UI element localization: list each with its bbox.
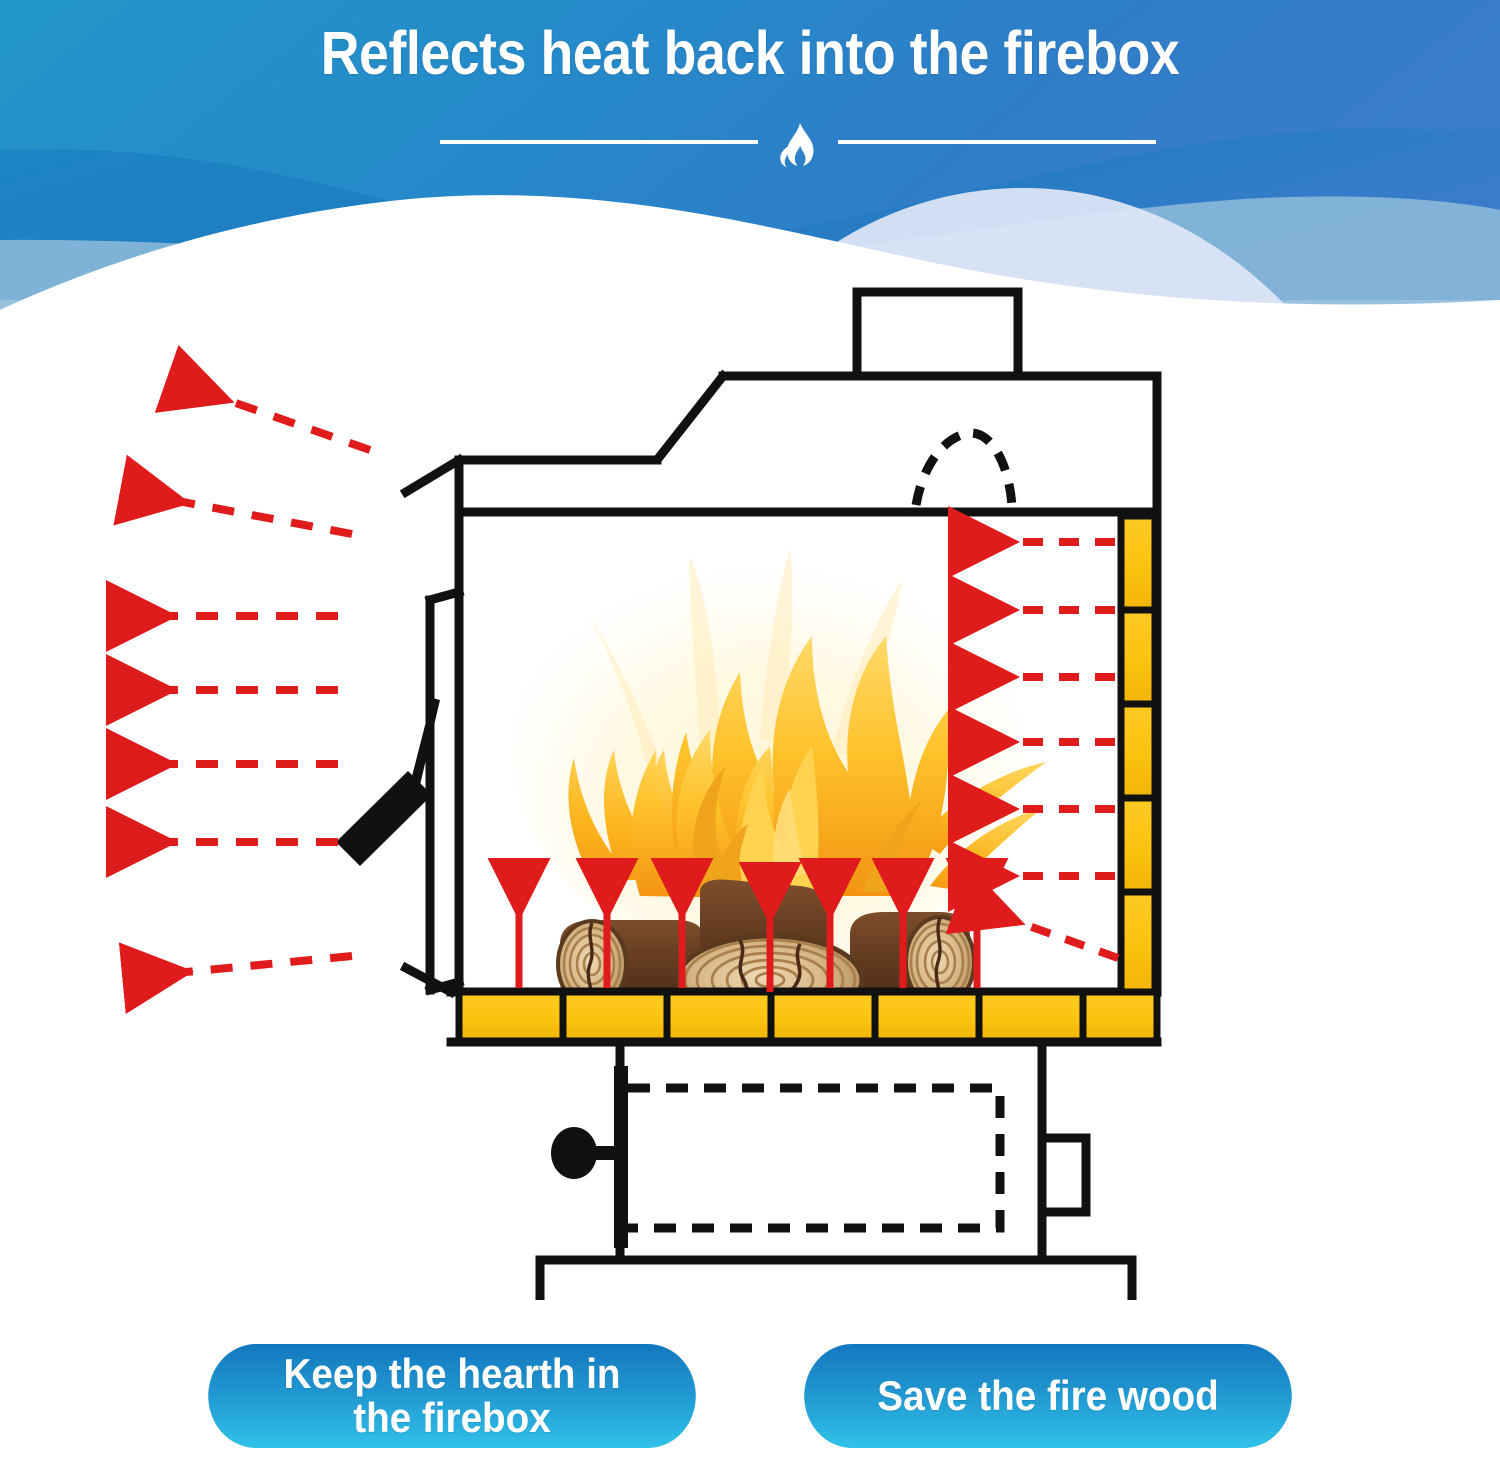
- divider-rule-right: [838, 140, 1156, 144]
- floor-brick: [667, 992, 771, 1042]
- floor-brick: [875, 992, 979, 1042]
- header-banner: Reflects heat back into the firebox: [0, 0, 1500, 310]
- save-firewood-button[interactable]: Save the fire wood: [804, 1344, 1292, 1448]
- base-plinth: [540, 1260, 1132, 1300]
- floor-brick: [563, 992, 667, 1042]
- stove-top-left-lip: [406, 460, 459, 492]
- heat-arrow-left: [186, 956, 352, 972]
- ash-pan-knob: [551, 1127, 624, 1179]
- floor-firebrick-row: [459, 992, 1157, 1042]
- side-air-vent: [1042, 1138, 1086, 1212]
- ash-pan-dashed-outline: [628, 1088, 1000, 1228]
- wood-stove-cutaway-diagram: [0, 280, 1500, 1300]
- flame-icon: [770, 122, 830, 174]
- keep-hearth-button[interactable]: Keep the hearth in the firebox: [208, 1344, 696, 1448]
- left-radiating-arrows: [170, 400, 370, 972]
- divider-rule-left: [440, 140, 758, 144]
- side-brick: [1121, 610, 1155, 704]
- heat-arrow-left: [227, 400, 370, 450]
- footer-button-row: Keep the hearth in the firebox Save the …: [0, 1344, 1500, 1450]
- floor-brick: [459, 992, 563, 1042]
- side-brick: [1121, 704, 1155, 798]
- floor-brick: [979, 992, 1083, 1042]
- side-brick: [1121, 892, 1155, 992]
- heat-arrow-left: [183, 502, 352, 534]
- side-brick: [1121, 798, 1155, 892]
- floor-brick: [1083, 992, 1157, 1042]
- door-handle: [336, 698, 440, 866]
- keep-hearth-button-label: Keep the hearth in the firebox: [283, 1352, 620, 1440]
- save-firewood-button-label: Save the fire wood: [877, 1374, 1218, 1418]
- side-brick: [1121, 516, 1155, 610]
- vertical-firebrick-column: [1121, 516, 1155, 992]
- stove-top-profile: [459, 376, 1157, 512]
- flue-collar: [857, 292, 1018, 376]
- floor-brick: [771, 992, 875, 1042]
- header-divider: [0, 122, 1500, 162]
- dashed-baffle-arch: [916, 433, 1012, 507]
